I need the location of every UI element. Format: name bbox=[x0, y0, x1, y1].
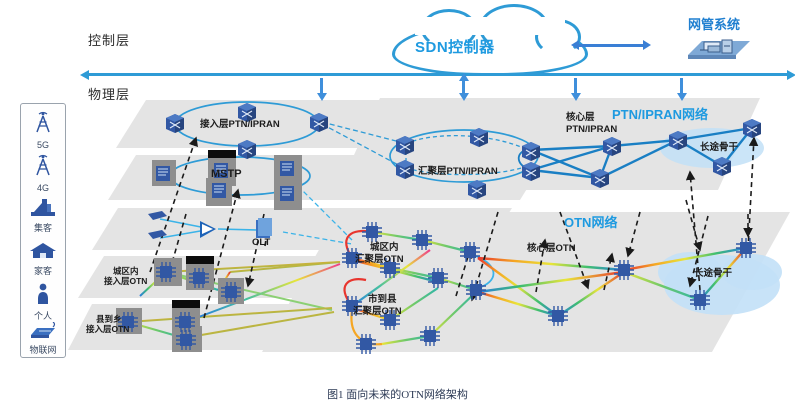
node-icons-svg bbox=[0, 0, 795, 419]
otn-cpe-nodes bbox=[148, 211, 272, 239]
plane-divider-arrow bbox=[88, 73, 788, 76]
otn-core-links bbox=[478, 248, 746, 316]
otn-access-urban-label-line2: 接入层OTN bbox=[104, 276, 147, 287]
otn-access-county-label-line2: 接入层OTN bbox=[86, 324, 129, 335]
customer-type-legend: 5G 4G 集客 bbox=[20, 103, 66, 358]
otn-agg-urban-label-line2: 汇聚层OTN bbox=[355, 254, 404, 265]
ptn-core-label-line2: PTN/IPRAN bbox=[566, 124, 617, 135]
backbone-clouds bbox=[658, 128, 782, 315]
plane-down-arrow-4 bbox=[680, 78, 683, 94]
otn-access-links bbox=[128, 262, 340, 338]
legend-item-person[interactable]: 个人 bbox=[21, 282, 65, 321]
ptn-network-title: PTN/IPRAN网络 bbox=[612, 104, 708, 123]
otn-agg-links bbox=[345, 231, 494, 344]
legend-label-home: 家客 bbox=[21, 266, 65, 276]
ptn-core-nodes bbox=[591, 131, 687, 188]
physical-layer-label: 物理层 bbox=[88, 84, 130, 103]
ptn-access-to-agg-links bbox=[322, 122, 404, 168]
otn-agg-city-label-line1: 市到县 bbox=[368, 294, 397, 305]
enterprise-building-icon bbox=[28, 196, 58, 218]
otn-core-label: 核心层OTN bbox=[527, 243, 576, 254]
legend-label-5g: 5G bbox=[21, 140, 65, 150]
iot-gateway-icon bbox=[27, 322, 59, 340]
otn-olt-links bbox=[160, 219, 258, 238]
ptn-access-ring-label: 接入层PTN/IPRAN bbox=[200, 119, 280, 130]
legend-label-person: 个人 bbox=[21, 311, 65, 321]
demand-flow-arrows bbox=[150, 138, 754, 318]
diagram-canvas: 控制层 物理层 SDN控制器 网管系统 5G bbox=[0, 0, 795, 419]
nms-label: 网管系统 bbox=[688, 14, 740, 33]
legend-label-enterprise: 集客 bbox=[21, 223, 65, 233]
plane-layers bbox=[68, 98, 790, 352]
legend-item-iot[interactable]: 物联网 bbox=[21, 322, 65, 355]
mstp-nodes bbox=[152, 150, 302, 210]
plane-down-arrow-2 bbox=[462, 80, 465, 94]
legend-item-4g[interactable]: 4G bbox=[21, 152, 65, 193]
ptn-core-label-line1: 核心层 bbox=[566, 112, 595, 123]
ptn-rings bbox=[170, 102, 538, 195]
cell-tower-5g-icon bbox=[30, 109, 56, 135]
ptn-agg-nodes bbox=[396, 128, 540, 199]
ptn-core-mesh bbox=[519, 128, 752, 178]
otn-network-title: OTN网络 bbox=[564, 212, 617, 231]
otn-agg-city-label-line2: 汇聚层OTN bbox=[353, 306, 402, 317]
ptn-backbone-label: 长途骨干 bbox=[700, 142, 738, 153]
legend-item-home[interactable]: 家客 bbox=[21, 239, 65, 276]
figure-caption: 图1 面向未来的OTN网络架构 bbox=[0, 386, 795, 402]
olt-label: OLT bbox=[252, 237, 270, 248]
network-topology-svg bbox=[0, 0, 795, 419]
person-icon bbox=[32, 282, 54, 306]
control-layer-label: 控制层 bbox=[88, 30, 130, 49]
legend-item-enterprise[interactable]: 集客 bbox=[21, 196, 65, 233]
ptn-aggregation-ring-label: 汇聚层PTN/IPRAN bbox=[418, 166, 498, 177]
plane-down-arrow-3 bbox=[574, 78, 577, 94]
mstp-to-otn-link bbox=[283, 186, 352, 244]
nms-server-icon bbox=[680, 33, 754, 63]
home-icon bbox=[28, 239, 58, 261]
plane-down-arrow-1 bbox=[320, 78, 323, 94]
legend-label-iot: 物联网 bbox=[21, 345, 65, 355]
otn-agg-nodes bbox=[342, 222, 486, 354]
legend-label-4g: 4G bbox=[21, 183, 65, 193]
mstp-label: MSTP bbox=[211, 169, 242, 180]
legend-item-5g[interactable]: 5G bbox=[21, 109, 65, 150]
ptn-access-nodes bbox=[166, 103, 328, 159]
otn-agg-urban-label-line1: 城区内 bbox=[370, 242, 399, 253]
sdn-controller-label: SDN控制器 bbox=[415, 36, 495, 57]
otn-core-nodes bbox=[548, 260, 634, 326]
sdn-nms-link-arrow bbox=[578, 44, 644, 47]
otn-backbone-label: 长途骨干 bbox=[694, 268, 732, 279]
cell-tower-4g-icon bbox=[30, 152, 56, 178]
